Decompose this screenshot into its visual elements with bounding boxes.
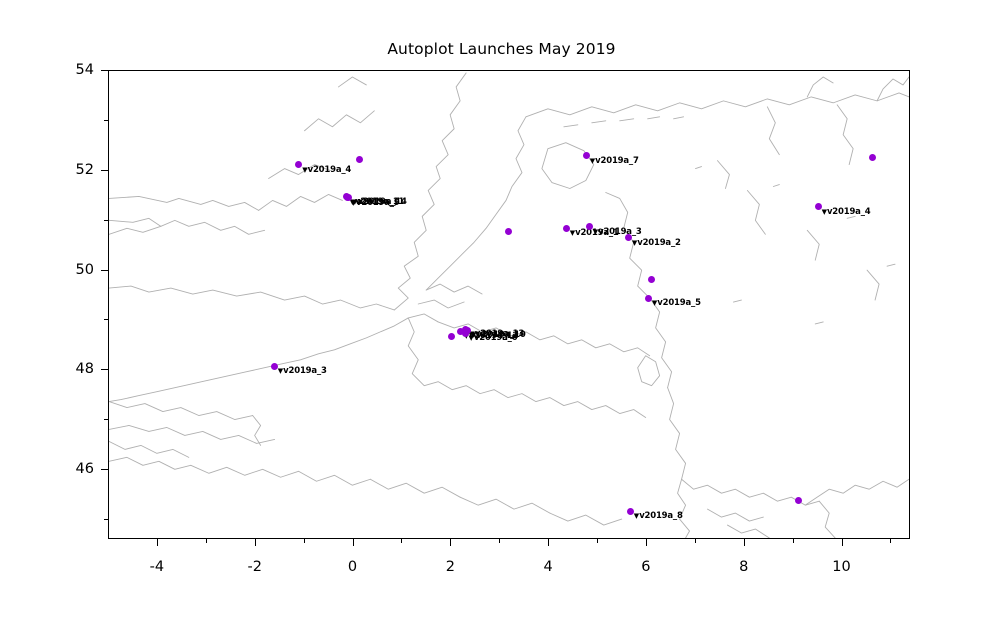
point-label: ▼v2019a_7: [590, 156, 639, 166]
scatter-point: [563, 225, 570, 232]
point-label: ▼v2019a_9: [351, 198, 400, 208]
scatter-point: [505, 228, 512, 235]
y-axis-major-tick: [101, 270, 108, 271]
x-axis-minor-tick: [304, 539, 305, 543]
figure-canvas: Autoplot Launches May 2019: [0, 0, 1003, 633]
y-axis-tick-label: 54: [60, 62, 94, 78]
scatter-point: [815, 203, 822, 210]
scatter-point: [795, 497, 802, 504]
x-axis-tick-label: 2: [446, 559, 455, 575]
page-title: Autoplot Launches May 2019: [0, 40, 1003, 58]
x-axis-minor-tick: [206, 539, 207, 543]
x-axis-tick-label: 10: [832, 559, 850, 575]
x-axis-tick-label: -4: [150, 559, 164, 575]
x-axis-tick-label: 8: [739, 559, 748, 575]
point-label: ▼v2019a_4: [822, 207, 871, 217]
y-axis-major-tick: [101, 70, 108, 71]
scatter-point: [586, 223, 593, 230]
y-axis-major-tick: [101, 369, 108, 370]
x-axis-tick-label: 6: [641, 559, 650, 575]
x-axis-minor-tick: [695, 539, 696, 543]
x-axis-minor-tick: [597, 539, 598, 543]
y-axis-minor-tick: [104, 120, 108, 121]
point-label: ▼v2019a_2: [632, 238, 681, 248]
x-axis-major-tick: [548, 539, 549, 546]
scatter-point: [271, 363, 278, 370]
y-axis-major-tick: [101, 469, 108, 470]
y-axis-tick-label: 50: [60, 262, 94, 278]
y-axis-tick-label: 52: [60, 162, 94, 178]
x-axis-major-tick: [744, 539, 745, 546]
y-axis-minor-tick: [104, 220, 108, 221]
x-axis-major-tick: [842, 539, 843, 546]
scatter-point: [648, 276, 655, 283]
point-label: ▼v2019a_4: [302, 165, 351, 175]
y-axis-major-tick: [101, 170, 108, 171]
point-label: ▼v2019a_3: [278, 366, 327, 376]
x-axis-tick-label: 0: [348, 559, 357, 575]
scatter-point: [356, 156, 363, 163]
point-label: ▼v2019a_5: [652, 298, 701, 308]
scatter-point: [583, 152, 590, 159]
x-axis-major-tick: [255, 539, 256, 546]
point-label: ▼v2019a_6: [469, 333, 518, 343]
y-axis-tick-label: 46: [60, 461, 94, 477]
x-axis-major-tick: [450, 539, 451, 546]
x-axis-minor-tick: [401, 539, 402, 543]
y-axis-minor-tick: [104, 319, 108, 320]
x-axis-major-tick: [646, 539, 647, 546]
point-label: ▼v2019a_8: [634, 511, 683, 521]
scatter-point: [462, 330, 469, 337]
y-axis-minor-tick: [104, 519, 108, 520]
point-label: ▼v2019a_3: [593, 227, 642, 237]
scatter-points-layer: ▼v2019a_4▼v2019a_11▼v2019a_14▼v2019a_9▼v…: [109, 71, 909, 538]
y-axis-minor-tick: [104, 419, 108, 420]
x-axis-tick-label: -2: [247, 559, 261, 575]
x-axis-major-tick: [353, 539, 354, 546]
y-axis-tick-label: 48: [60, 361, 94, 377]
scatter-point: [344, 194, 351, 201]
plot-axes: ▼v2019a_4▼v2019a_11▼v2019a_14▼v2019a_9▼v…: [108, 70, 910, 539]
scatter-point: [295, 161, 302, 168]
x-axis-tick-label: 4: [543, 559, 552, 575]
x-axis-major-tick: [157, 539, 158, 546]
scatter-point: [625, 234, 632, 241]
scatter-point: [627, 508, 634, 515]
x-axis-minor-tick: [499, 539, 500, 543]
x-axis-minor-tick: [890, 539, 891, 543]
scatter-point: [869, 154, 876, 161]
scatter-point: [448, 333, 455, 340]
scatter-point: [645, 295, 652, 302]
x-axis-minor-tick: [793, 539, 794, 543]
